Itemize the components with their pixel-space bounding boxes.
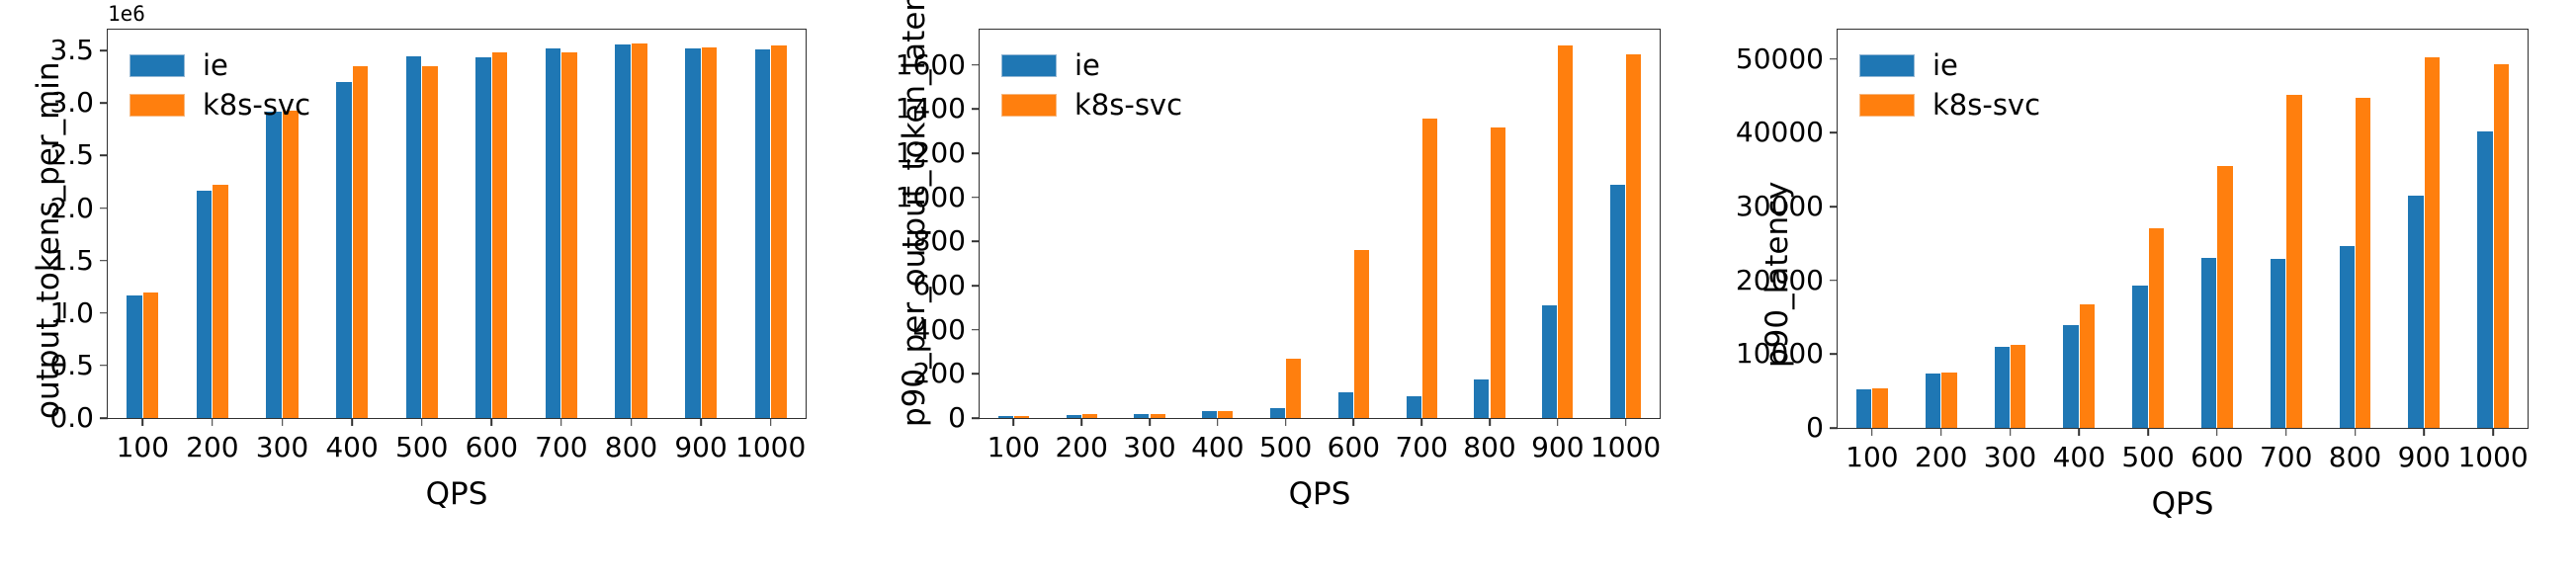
x-axis-tick-mark — [1557, 418, 1559, 426]
y-axis-tick-label: 10000 — [1736, 340, 1838, 368]
x-axis-tick-mark — [631, 418, 633, 426]
legend-swatch-icon-k8s-svc — [129, 94, 185, 117]
bar-k8s-svc-200 — [1082, 414, 1097, 418]
bar-k8s-svc-300 — [1151, 414, 1165, 418]
x-axis-tick-label: 200 — [1915, 444, 1967, 471]
bar-k8s-svc-400 — [2080, 304, 2095, 428]
bar-k8s-svc-700 — [561, 52, 577, 418]
x-axis-tick-label: 900 — [2398, 444, 2450, 471]
x-axis-tick-label: 700 — [2260, 444, 2312, 471]
legend-label-ie: ie — [203, 51, 228, 80]
bar-ie-700 — [546, 48, 561, 418]
x-axis-tick-mark — [2216, 428, 2218, 436]
y-axis-tick-mark — [100, 260, 108, 262]
bar-ie-800 — [1474, 379, 1489, 418]
y-axis-tick-mark — [100, 155, 108, 157]
bar-ie-900 — [1542, 305, 1557, 418]
bar-ie-300 — [266, 112, 282, 418]
y-axis-tick-label: 200 — [913, 360, 980, 387]
y-axis-tick-mark — [972, 285, 980, 287]
x-axis-tick-label: 300 — [1123, 434, 1175, 461]
bar-ie-1000 — [755, 49, 771, 418]
y-axis-tick-mark — [972, 109, 980, 111]
bar-ie-200 — [1926, 374, 1940, 428]
legend: ie k8s-svc — [1001, 45, 1182, 125]
bar-k8s-svc-600 — [492, 52, 508, 418]
y-axis-tick-label: 30000 — [1736, 193, 1838, 220]
x-axis-tick-label: 600 — [2190, 444, 2243, 471]
y-axis-tick-mark — [100, 312, 108, 314]
x-axis-tick-label: 400 — [325, 434, 378, 461]
bar-ie-400 — [2063, 325, 2078, 428]
bar-ie-500 — [1270, 408, 1285, 418]
legend: ie k8s-svc — [1859, 45, 2040, 125]
x-axis-tick-mark — [282, 418, 284, 426]
bar-ie-600 — [1338, 392, 1353, 418]
legend-entry-ie: ie — [1859, 45, 2040, 85]
bar-ie-400 — [336, 82, 352, 418]
x-axis-tick-mark — [1285, 418, 1287, 426]
y-axis-tick-label: 400 — [913, 316, 980, 344]
bar-k8s-svc-100 — [1014, 416, 1029, 418]
bar-ie-100 — [127, 295, 142, 418]
y-axis-offset-text: 1e6 — [108, 2, 145, 26]
bar-ie-900 — [685, 48, 701, 418]
bar-ie-800 — [615, 44, 631, 418]
bar-k8s-svc-500 — [2149, 228, 2164, 428]
bar-k8s-svc-700 — [1422, 119, 1437, 418]
bar-k8s-svc-1000 — [1626, 54, 1641, 418]
plot-axes: ie k8s-svc QPS 0200400600800100012001400… — [979, 29, 1661, 419]
x-axis-label: QPS — [2152, 489, 2214, 520]
legend-label-ie: ie — [1932, 51, 1958, 80]
y-axis-tick-mark — [972, 417, 980, 419]
x-axis-tick-mark — [1489, 418, 1491, 426]
x-axis-tick-label: 600 — [1328, 434, 1380, 461]
legend-entry-ie: ie — [129, 45, 310, 85]
x-axis-tick-mark — [770, 418, 772, 426]
legend-swatch-icon-ie — [129, 54, 185, 77]
chart-panel-output-tokens-per-min: output_tokens_per_min 1e6 ie k8s-svc QPS… — [0, 0, 860, 585]
y-axis-tick-label: 40000 — [1736, 119, 1838, 146]
y-axis-tick-mark — [1830, 427, 1838, 429]
legend-swatch-icon-ie — [1859, 54, 1915, 77]
bar-k8s-svc-300 — [283, 111, 299, 418]
x-axis-tick-mark — [1080, 418, 1082, 426]
bar-k8s-svc-200 — [1941, 373, 1956, 428]
bar-k8s-svc-200 — [213, 185, 228, 418]
x-axis-tick-label: 400 — [2053, 444, 2105, 471]
y-axis-tick-mark — [100, 49, 108, 51]
chart-panel-p90-latency: p90_latency ie k8s-svc QPS 0100002000030… — [1708, 0, 2576, 585]
bar-k8s-svc-300 — [2011, 345, 2025, 428]
y-axis-tick-mark — [972, 374, 980, 376]
y-axis-tick-label: 1600 — [896, 51, 980, 79]
bar-k8s-svc-600 — [1354, 250, 1369, 418]
x-axis-tick-label: 800 — [1463, 434, 1515, 461]
bar-k8s-svc-400 — [353, 66, 369, 418]
bar-ie-700 — [2271, 259, 2285, 428]
bar-ie-100 — [998, 416, 1013, 418]
bar-k8s-svc-1000 — [771, 45, 787, 418]
legend-entry-k8s-svc: k8s-svc — [1001, 85, 1182, 125]
y-axis-tick-mark — [972, 64, 980, 66]
bar-k8s-svc-500 — [422, 66, 438, 418]
legend-label-k8s-svc: k8s-svc — [1932, 91, 2040, 120]
plot-axes: 1e6 ie k8s-svc QPS 0.00.51.01.52.02.53.0… — [107, 29, 807, 419]
legend: ie k8s-svc — [129, 45, 310, 125]
x-axis-tick-mark — [421, 418, 423, 426]
bar-k8s-svc-900 — [702, 47, 718, 418]
y-axis-tick-mark — [100, 103, 108, 105]
y-axis-tick-mark — [972, 197, 980, 199]
y-axis-tick-mark — [1830, 354, 1838, 356]
bar-k8s-svc-800 — [1491, 127, 1505, 418]
bar-k8s-svc-500 — [1286, 359, 1301, 418]
legend-entry-k8s-svc: k8s-svc — [129, 85, 310, 125]
x-axis-tick-label: 1000 — [1590, 434, 1661, 461]
y-axis-tick-label: 1400 — [896, 95, 980, 123]
plot-axes: ie k8s-svc QPS 0100002000030000400005000… — [1837, 29, 2529, 429]
y-axis-tick-mark — [100, 208, 108, 209]
bar-ie-300 — [1134, 414, 1149, 418]
bar-ie-200 — [197, 191, 213, 418]
bar-ie-600 — [2201, 258, 2216, 428]
x-axis-tick-mark — [1625, 418, 1627, 426]
x-axis-tick-label: 200 — [186, 434, 238, 461]
x-axis-tick-label: 1000 — [735, 434, 806, 461]
x-axis-tick-mark — [1013, 418, 1015, 426]
bar-k8s-svc-100 — [143, 292, 159, 418]
x-axis-tick-label: 900 — [674, 434, 727, 461]
x-axis-label: QPS — [426, 479, 488, 510]
x-axis-tick-mark — [1149, 418, 1151, 426]
x-axis-tick-label: 600 — [466, 434, 518, 461]
bar-ie-100 — [1856, 389, 1871, 428]
x-axis-tick-mark — [2147, 428, 2149, 436]
bar-ie-1000 — [2477, 131, 2492, 428]
y-axis-tick-mark — [972, 152, 980, 154]
bar-ie-200 — [1067, 415, 1081, 418]
bar-k8s-svc-600 — [2217, 166, 2232, 428]
bar-ie-500 — [2132, 286, 2147, 428]
x-axis-tick-mark — [2079, 428, 2081, 436]
bar-k8s-svc-100 — [1872, 388, 1887, 428]
x-axis-tick-label: 400 — [1191, 434, 1244, 461]
bar-ie-900 — [2408, 196, 2423, 428]
y-axis-tick-mark — [1830, 206, 1838, 208]
x-axis-tick-label: 100 — [987, 434, 1040, 461]
x-axis-tick-label: 900 — [1531, 434, 1584, 461]
x-axis-tick-mark — [491, 418, 493, 426]
bar-k8s-svc-800 — [2356, 98, 2370, 428]
y-axis-tick-mark — [100, 417, 108, 419]
x-axis-tick-label: 500 — [2121, 444, 2174, 471]
x-axis-tick-label: 800 — [2329, 444, 2381, 471]
x-axis-tick-label: 300 — [256, 434, 308, 461]
y-axis-tick-mark — [1830, 280, 1838, 282]
legend-entry-ie: ie — [1001, 45, 1182, 85]
x-axis-tick-mark — [1871, 428, 1873, 436]
legend-swatch-icon-k8s-svc — [1859, 94, 1915, 117]
y-axis-tick-label: 20000 — [1736, 267, 1838, 294]
bar-ie-600 — [475, 57, 491, 418]
x-axis-tick-mark — [1940, 428, 1942, 436]
bar-k8s-svc-400 — [1218, 411, 1233, 418]
bar-ie-300 — [1995, 347, 2010, 428]
bar-k8s-svc-700 — [2286, 95, 2301, 428]
x-axis-tick-mark — [1353, 418, 1355, 426]
x-axis-tick-label: 100 — [117, 434, 169, 461]
x-axis-tick-mark — [2010, 428, 2012, 436]
y-axis-tick-label: 1200 — [896, 139, 980, 167]
x-axis-tick-label: 800 — [605, 434, 657, 461]
bar-ie-1000 — [1610, 185, 1625, 418]
x-axis-tick-mark — [142, 418, 144, 426]
y-axis-tick-mark — [972, 241, 980, 243]
x-axis-tick-label: 500 — [1259, 434, 1312, 461]
x-axis-tick-mark — [212, 418, 214, 426]
x-axis-tick-label: 700 — [1395, 434, 1447, 461]
y-axis-tick-label: 50000 — [1736, 45, 1838, 73]
x-axis-tick-mark — [560, 418, 562, 426]
x-axis-tick-label: 500 — [395, 434, 448, 461]
y-axis-tick-mark — [972, 329, 980, 331]
y-axis-tick-label: 600 — [913, 272, 980, 299]
bar-k8s-svc-800 — [632, 43, 647, 418]
x-axis-tick-label: 100 — [1846, 444, 1898, 471]
y-axis-tick-label: 1000 — [896, 184, 980, 211]
bar-k8s-svc-1000 — [2494, 64, 2509, 428]
bar-ie-500 — [406, 56, 422, 418]
legend-label-k8s-svc: k8s-svc — [1074, 91, 1182, 120]
x-axis-tick-label: 200 — [1055, 434, 1107, 461]
x-axis-tick-label: 300 — [1984, 444, 2036, 471]
bar-ie-400 — [1202, 411, 1217, 418]
x-axis-tick-mark — [2424, 428, 2426, 436]
x-axis-label: QPS — [1289, 479, 1351, 510]
legend-swatch-icon-ie — [1001, 54, 1057, 77]
x-axis-tick-mark — [2492, 428, 2494, 436]
y-axis-tick-mark — [1830, 58, 1838, 60]
figure-canvas: output_tokens_per_min 1e6 ie k8s-svc QPS… — [0, 0, 2576, 585]
x-axis-tick-mark — [351, 418, 353, 426]
bar-k8s-svc-900 — [1558, 45, 1573, 418]
x-axis-tick-mark — [1420, 418, 1422, 426]
legend-swatch-icon-k8s-svc — [1001, 94, 1057, 117]
y-axis-tick-mark — [100, 365, 108, 367]
bar-ie-700 — [1407, 396, 1421, 418]
legend-label-k8s-svc: k8s-svc — [203, 91, 310, 120]
y-axis-tick-mark — [1830, 132, 1838, 134]
bar-ie-800 — [2340, 246, 2355, 428]
x-axis-tick-mark — [2285, 428, 2287, 436]
x-axis-tick-mark — [1217, 418, 1219, 426]
legend-entry-k8s-svc: k8s-svc — [1859, 85, 2040, 125]
x-axis-tick-label: 700 — [535, 434, 587, 461]
x-axis-tick-mark — [2355, 428, 2357, 436]
chart-panel-p90-per-output-token-latency: p90_per_output_token_latency ie k8s-svc … — [860, 0, 1708, 585]
x-axis-tick-label: 1000 — [2457, 444, 2528, 471]
x-axis-tick-mark — [700, 418, 702, 426]
legend-label-ie: ie — [1074, 51, 1100, 80]
bar-k8s-svc-900 — [2425, 57, 2440, 428]
y-axis-tick-label: 800 — [913, 227, 980, 255]
